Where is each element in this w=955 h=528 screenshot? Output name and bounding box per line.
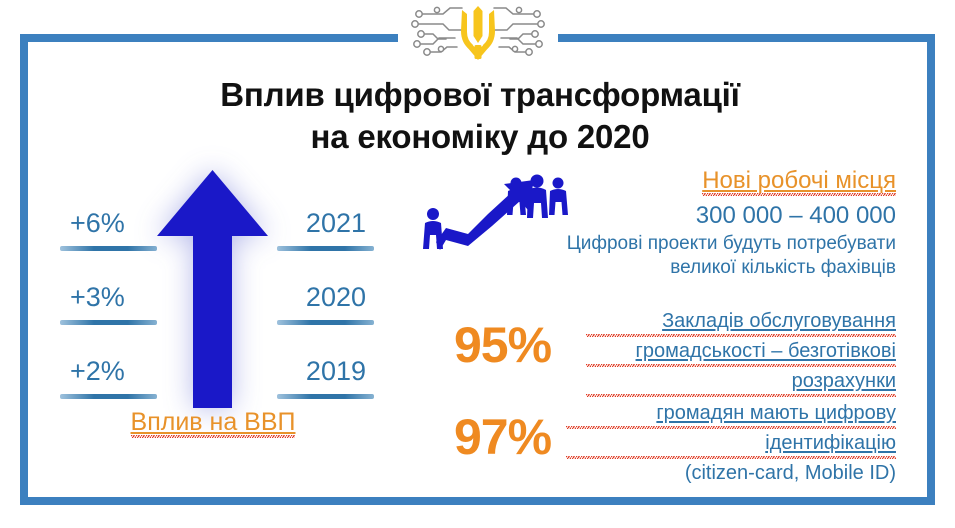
stat-text-97: громадян мають цифрову ідентифікацію (ci… xyxy=(566,400,896,487)
stat-97-line-2: ідентифікацію xyxy=(566,430,896,460)
stat-97-line-1: громадян мають цифрову xyxy=(566,400,896,430)
gdp-percent-2021: +6% xyxy=(70,206,125,240)
gdp-year-2021: 2021 xyxy=(306,206,366,240)
stat-block-cashless-payments: 95% Закладів обслуговування громадськост… xyxy=(416,306,896,406)
new-jobs-text: Нові робочі місця 300 000 – 400 000 Цифр… xyxy=(526,166,896,280)
stat-value-97: 97% xyxy=(454,408,551,466)
page-title-line-2: на економіку до 2020 xyxy=(60,116,900,158)
stat-95-line-2: громадськості – безготівкові xyxy=(586,338,896,368)
new-jobs-block: Нові робочі місця 300 000 – 400 000 Цифр… xyxy=(416,166,896,286)
gdp-percent-2019: +2% xyxy=(70,354,125,388)
new-jobs-description-line-2: великої кількість фахівців xyxy=(526,256,896,280)
new-jobs-range: 300 000 – 400 000 xyxy=(526,199,896,232)
gdp-rule-left-2020 xyxy=(60,320,157,325)
stat-block-digital-identification: 97% громадян мають цифрову ідентифікацію… xyxy=(416,398,896,498)
gdp-rule-right-2019 xyxy=(277,394,374,399)
up-arrow-icon xyxy=(155,168,270,410)
new-jobs-heading: Нові робочі місця xyxy=(526,166,896,196)
gdp-rule-right-2021 xyxy=(277,246,374,251)
stat-95-line-3: розрахунки xyxy=(586,368,896,398)
stat-value-95: 95% xyxy=(454,316,551,374)
gdp-percent-2020: +3% xyxy=(70,280,125,314)
gdp-year-2019: 2019 xyxy=(306,354,366,388)
gdp-rule-left-2021 xyxy=(60,246,157,251)
gdp-year-2020: 2020 xyxy=(306,280,366,314)
gdp-caption-text: Вплив на ВВП xyxy=(131,408,296,439)
ukrainian-trident-circuit-emblem xyxy=(407,2,549,64)
page-title: Вплив цифрової трансформації на економік… xyxy=(60,74,900,158)
stat-97-line-3: (citizen-card, Mobile ID) xyxy=(566,460,896,487)
new-jobs-heading-text: Нові робочі місця xyxy=(702,167,896,197)
gdp-rule-left-2019 xyxy=(60,394,157,399)
stat-95-line-1: Закладів обслуговування xyxy=(586,308,896,338)
new-jobs-description-line-1: Цифрові проекти будуть потребувати xyxy=(526,232,896,256)
gdp-impact-chart: +6% 2021 +3% 2020 +2% 2019 Вплив на ВВП xyxy=(48,168,378,433)
gdp-rule-right-2020 xyxy=(277,320,374,325)
page-title-line-1: Вплив цифрової трансформації xyxy=(60,74,900,116)
stat-text-95: Закладів обслуговування громадськості – … xyxy=(586,308,896,398)
gdp-caption: Вплив на ВВП xyxy=(48,408,378,437)
